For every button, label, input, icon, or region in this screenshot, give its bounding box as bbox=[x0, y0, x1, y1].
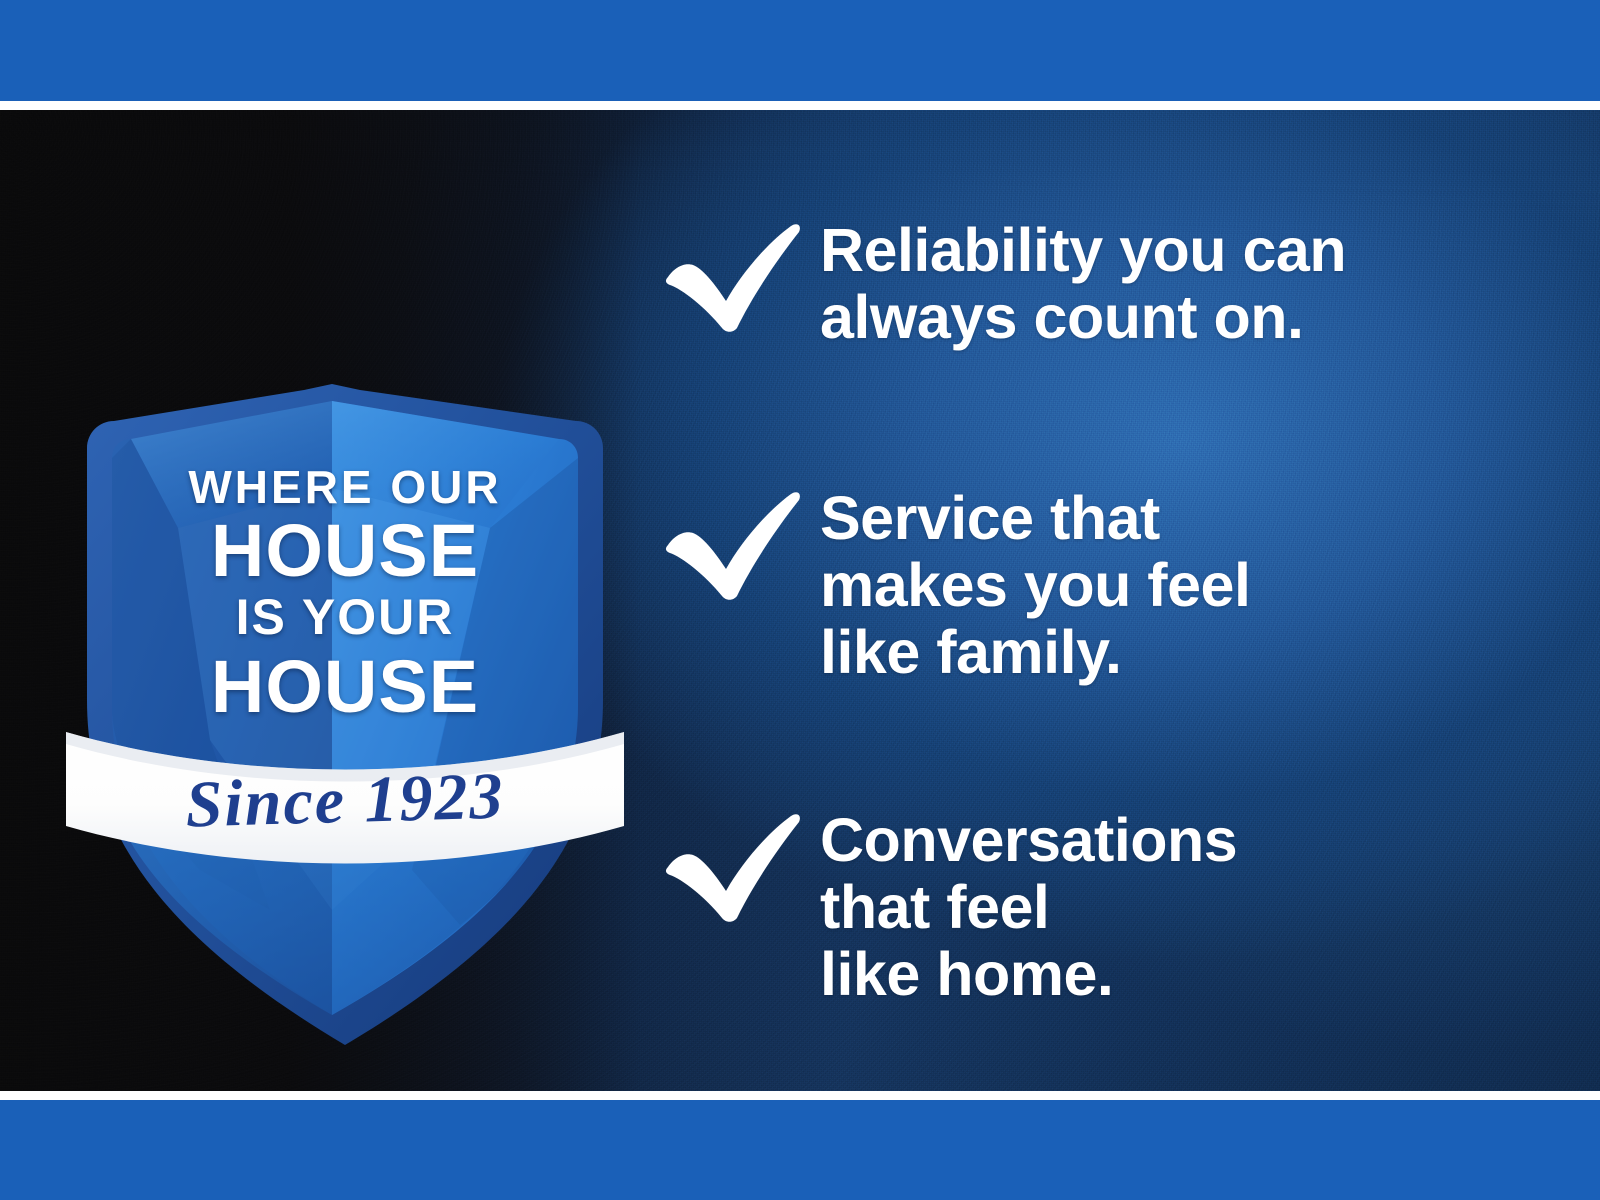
main-stage: WHERE OUR HOUSE IS YOUR HOUSE Since 1923… bbox=[0, 110, 1600, 1091]
checkmark-glyph bbox=[660, 489, 805, 601]
benefit-text-1: Reliability you can always count on. bbox=[820, 215, 1346, 351]
benefit-item-2: Service that makes you feel like family. bbox=[660, 483, 1250, 686]
top-brand-bar bbox=[0, 0, 1600, 101]
benefit-item-1: Reliability you can always count on. bbox=[660, 215, 1346, 351]
checkmark-icon bbox=[660, 215, 820, 333]
checkmark-glyph bbox=[660, 811, 805, 923]
checkmark-icon bbox=[660, 805, 820, 923]
promo-graphic: WHERE OUR HOUSE IS YOUR HOUSE Since 1923… bbox=[0, 0, 1600, 1200]
bottom-brand-bar bbox=[0, 1100, 1600, 1200]
benefit-text-3: Conversations that feel like home. bbox=[820, 805, 1237, 1008]
bottom-divider bbox=[0, 1091, 1600, 1100]
benefits-list: Reliability you can always count on. Ser… bbox=[660, 110, 1560, 1091]
benefit-item-3: Conversations that feel like home. bbox=[660, 805, 1237, 1008]
top-divider bbox=[0, 101, 1600, 110]
checkmark-icon bbox=[660, 483, 820, 601]
benefit-text-2: Service that makes you feel like family. bbox=[820, 483, 1250, 686]
checkmark-glyph bbox=[660, 221, 805, 333]
shield-graphic bbox=[60, 270, 630, 1060]
shield-badge: WHERE OUR HOUSE IS YOUR HOUSE Since 1923 bbox=[60, 270, 630, 1060]
